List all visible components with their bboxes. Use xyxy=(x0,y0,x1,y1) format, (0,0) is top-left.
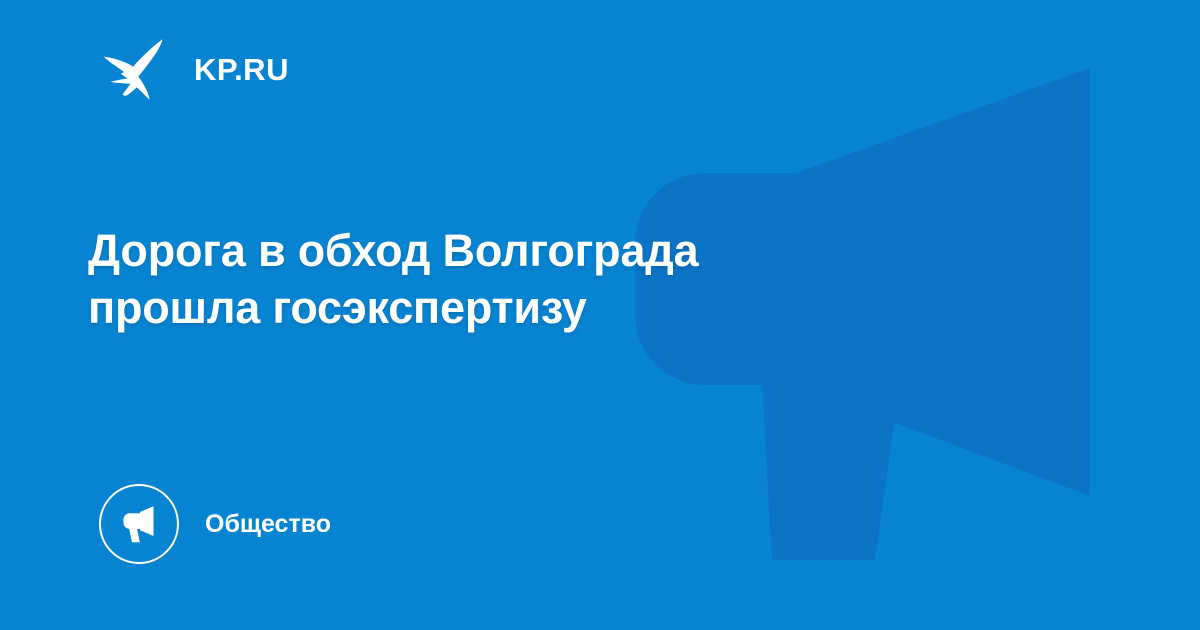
megaphone-icon xyxy=(99,484,179,564)
swallow-bird-icon xyxy=(100,36,172,102)
brand-name: KP.RU xyxy=(194,54,289,85)
page-title: Дорога в обход Волгограда прошла госэксп… xyxy=(88,222,968,336)
share-card: KP.RU Дорога в обход Волгограда прошла г… xyxy=(0,0,1200,630)
category-badge[interactable]: Общество xyxy=(99,484,331,564)
category-label: Общество xyxy=(205,512,331,537)
brand-header[interactable]: KP.RU xyxy=(100,36,289,102)
